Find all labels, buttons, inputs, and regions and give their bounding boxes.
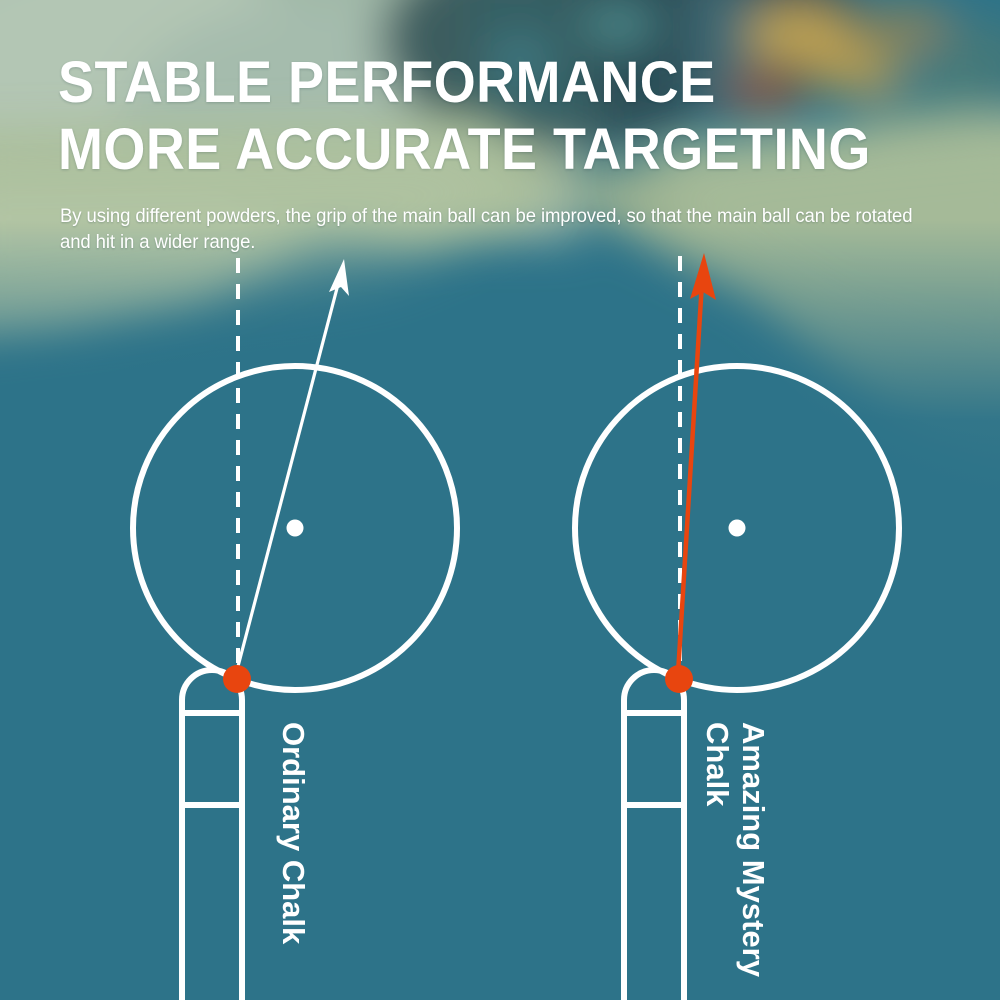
label-amazing-mystery-chalk-line2: Chalk	[700, 722, 734, 806]
cue-stick-right	[622, 670, 686, 1000]
label-amazing-mystery-chalk-line1: Amazing Mystery	[736, 722, 771, 977]
ball-center-dot-left	[287, 520, 304, 537]
headline-block: STABLE PERFORMANCE MORE ACCURATE TARGETI…	[58, 52, 932, 181]
promo-banner: STABLE PERFORMANCE MORE ACCURATE TARGETI…	[0, 0, 1000, 1000]
label-ordinary-chalk: Ordinary Chalk	[276, 722, 310, 944]
cue-stick-left	[180, 670, 244, 1000]
force-arrow-head-left	[329, 259, 349, 296]
headline-line-1: STABLE PERFORMANCE	[58, 52, 871, 114]
ball-center-dot-right	[729, 520, 746, 537]
force-arrow-shaft-left	[236, 273, 341, 674]
label-amazing-mystery-chalk: Amazing Mystery Chalk	[736, 722, 770, 977]
contact-point-dot-left	[223, 665, 251, 693]
contact-point-dot-right	[665, 665, 693, 693]
headline-line-2: MORE ACCURATE TARGETING	[58, 119, 871, 181]
subheading-description: By using different powders, the grip of …	[60, 203, 920, 255]
